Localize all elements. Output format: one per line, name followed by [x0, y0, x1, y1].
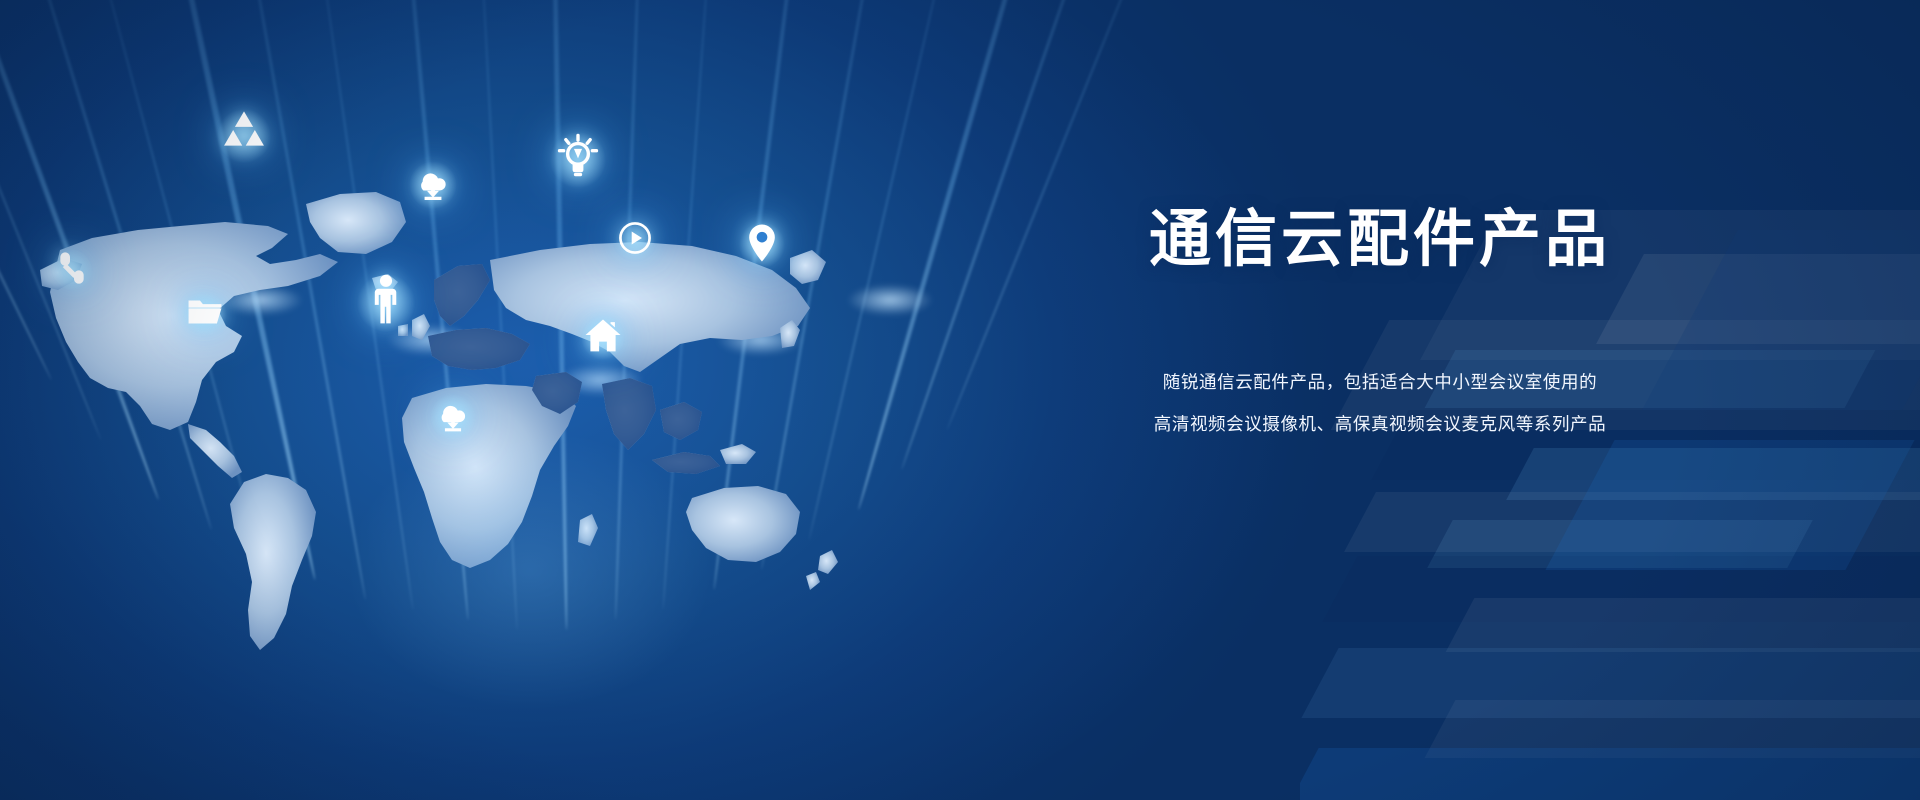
folder-icon-glyph [184, 291, 226, 333]
home-icon-glyph [582, 315, 624, 357]
subtitle-line-1: 随锐通信云配件产品，包括适合大中小型会议室使用的 [1080, 362, 1680, 403]
lightbulb-icon[interactable] [551, 130, 605, 184]
cloud-download-icon[interactable] [410, 160, 456, 206]
play-circle-icon[interactable] [616, 219, 654, 257]
triangle-cluster-icon-glyph [218, 107, 270, 159]
light-ray [856, 0, 1073, 511]
cloud-download-icon-2-glyph [431, 393, 475, 437]
triangle-cluster-icon[interactable] [218, 107, 270, 159]
play-circle-icon-glyph [616, 219, 654, 257]
lightbulb-icon-glyph [551, 130, 605, 184]
subtitle-line-2: 高清视频会议摄像机、高保真视频会议麦克风等系列产品 [1080, 404, 1680, 445]
phone-handset-icon-glyph [52, 248, 92, 288]
person-icon[interactable] [358, 272, 414, 328]
cloud-download-icon-glyph [410, 160, 456, 206]
map-pin-icon[interactable] [740, 221, 784, 265]
home-icon[interactable] [582, 315, 624, 357]
banner-subtitle: 随锐通信云配件产品，包括适合大中小型会议室使用的 高清视频会议摄像机、高保真视频… [1080, 362, 1680, 444]
folder-icon[interactable] [184, 291, 226, 333]
phone-handset-icon[interactable] [52, 248, 92, 288]
cloud-download-icon-2[interactable] [431, 393, 475, 437]
hero-banner: 通信云配件产品 随锐通信云配件产品，包括适合大中小型会议室使用的 高清视频会议摄… [0, 0, 1920, 800]
map-pin-icon-glyph [740, 221, 784, 265]
person-icon-glyph [358, 272, 414, 328]
banner-copy: 通信云配件产品 随锐通信云配件产品，包括适合大中小型会议室使用的 高清视频会议摄… [1080, 205, 1680, 445]
page-title: 通信云配件产品 [1080, 205, 1680, 274]
